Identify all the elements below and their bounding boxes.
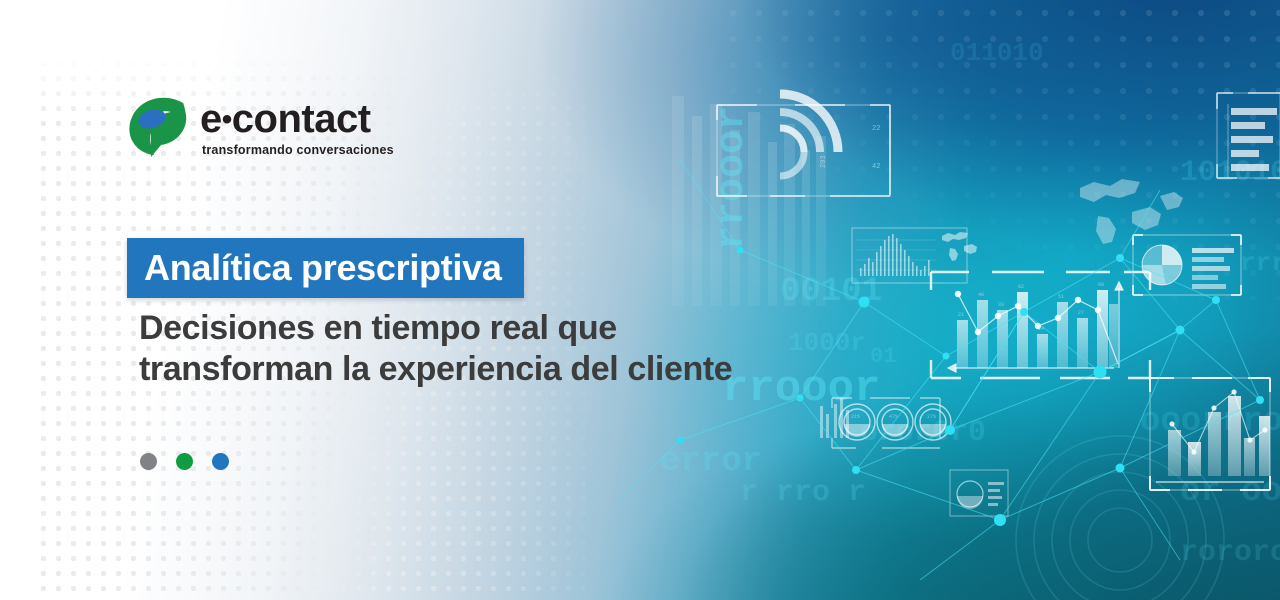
svg-text:48: 48: [978, 292, 984, 298]
logo-wordmark: e•contact: [200, 97, 371, 142]
logo-tagline: transformando conversaciones: [202, 143, 394, 157]
logo-wordmark-dot: •: [222, 103, 232, 136]
logo-wordmark-e: e: [200, 97, 222, 141]
indicator-dot-green[interactable]: [176, 453, 193, 470]
svg-text:42: 42: [872, 163, 880, 171]
svg-text:011010: 011010: [950, 38, 1044, 68]
small-dial-widget: [950, 470, 1008, 516]
svg-text:62: 62: [1018, 284, 1024, 290]
svg-text:oror0r0: oror0r0: [860, 416, 986, 450]
svg-text:203: 203: [820, 155, 828, 168]
hero-headline-line-1: Decisiones en tiempo real que: [139, 308, 899, 349]
svg-text:rororor: rororor: [1180, 536, 1280, 570]
hero-headline: Decisiones en tiempo real que transforma…: [139, 308, 899, 391]
svg-text:or ooro: or ooro: [1180, 473, 1280, 511]
kicker-text: Analítica prescriptiva: [144, 250, 502, 286]
svg-text:21%: 21%: [851, 414, 860, 420]
indicator-dots[interactable]: [140, 453, 229, 470]
econtact-logo[interactable]: e•contact transformando conversaciones: [127, 95, 377, 167]
logo-wordmark-contact: contact: [232, 97, 371, 141]
indicator-dot-gray[interactable]: [140, 453, 157, 470]
kicker-banner: Analítica prescriptiva: [127, 238, 524, 298]
hero-banner: rrooor 00101 rrooor error r rro r 1000r …: [0, 0, 1280, 600]
e-contact-leaf-logo-icon: [127, 95, 189, 157]
svg-text:27: 27: [1078, 310, 1084, 316]
svg-text:rrr0: rrr0: [1240, 248, 1280, 278]
svg-text:68: 68: [1098, 282, 1104, 288]
svg-text:21: 21: [958, 312, 964, 318]
svg-text:22: 22: [872, 125, 880, 133]
hero-headline-line-2: transforman la experiencia del cliente: [139, 349, 899, 390]
svg-text:27%: 27%: [927, 414, 936, 420]
svg-text:33: 33: [998, 302, 1004, 308]
world-map-graphic: [1080, 179, 1183, 244]
svg-text:101010: 101010: [1180, 156, 1280, 190]
svg-text:51: 51: [1058, 294, 1064, 300]
svg-text:r rro r: r rro r: [740, 476, 866, 510]
indicator-dot-blue[interactable]: [212, 453, 229, 470]
